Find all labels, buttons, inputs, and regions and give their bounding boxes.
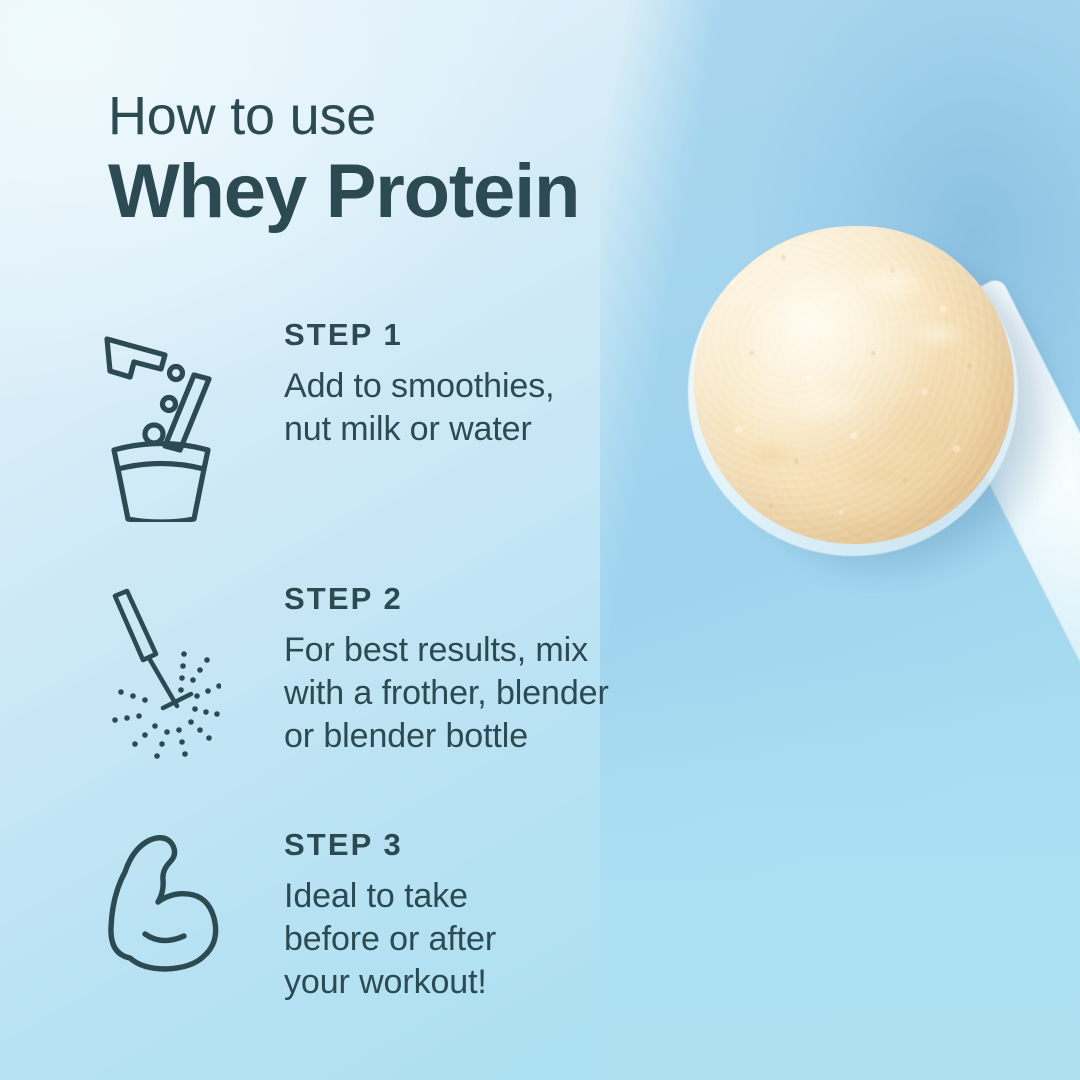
step-1-text: STEP 1 Add to smoothies, nut milk or wat… (226, 318, 554, 451)
step-item-2: STEP 2 For best results, mix with a frot… (96, 582, 609, 766)
step-1-icon-wrap (96, 318, 226, 522)
step-3-icon-wrap (96, 828, 226, 978)
protein-powder-mound (694, 226, 1014, 544)
title-line-2: Whey Protein (108, 151, 579, 233)
step-item-1: STEP 1 Add to smoothies, nut milk or wat… (96, 318, 554, 522)
title-line-1: How to use (108, 88, 579, 145)
step-1-label: STEP 1 (284, 318, 554, 352)
flexed-bicep-icon (100, 832, 222, 978)
photo-bottom-fade (600, 660, 1080, 1080)
how-to-use-whey-protein-graphic: How to use Whey Protein (0, 0, 1080, 1080)
step-2-description: For best results, mix with a frother, bl… (284, 629, 609, 759)
step-2-icon-wrap (96, 582, 226, 766)
protein-scoop-photo (600, 0, 1080, 1080)
page-title: How to use Whey Protein (108, 88, 579, 233)
step-2-label: STEP 2 (284, 582, 609, 616)
powder-clumps (694, 226, 1014, 544)
step-item-3: STEP 3 Ideal to take before or after you… (96, 828, 496, 1005)
step-3-text: STEP 3 Ideal to take before or after you… (226, 828, 496, 1005)
step-1-description: Add to smoothies, nut milk or water (284, 365, 554, 451)
step-2-text: STEP 2 For best results, mix with a frot… (226, 582, 609, 759)
milk-frother-icon (101, 586, 221, 766)
step-3-description: Ideal to take before or after your worko… (284, 875, 496, 1005)
step-3-label: STEP 3 (284, 828, 496, 862)
glass-with-straw-and-scoop-icon (101, 322, 221, 522)
